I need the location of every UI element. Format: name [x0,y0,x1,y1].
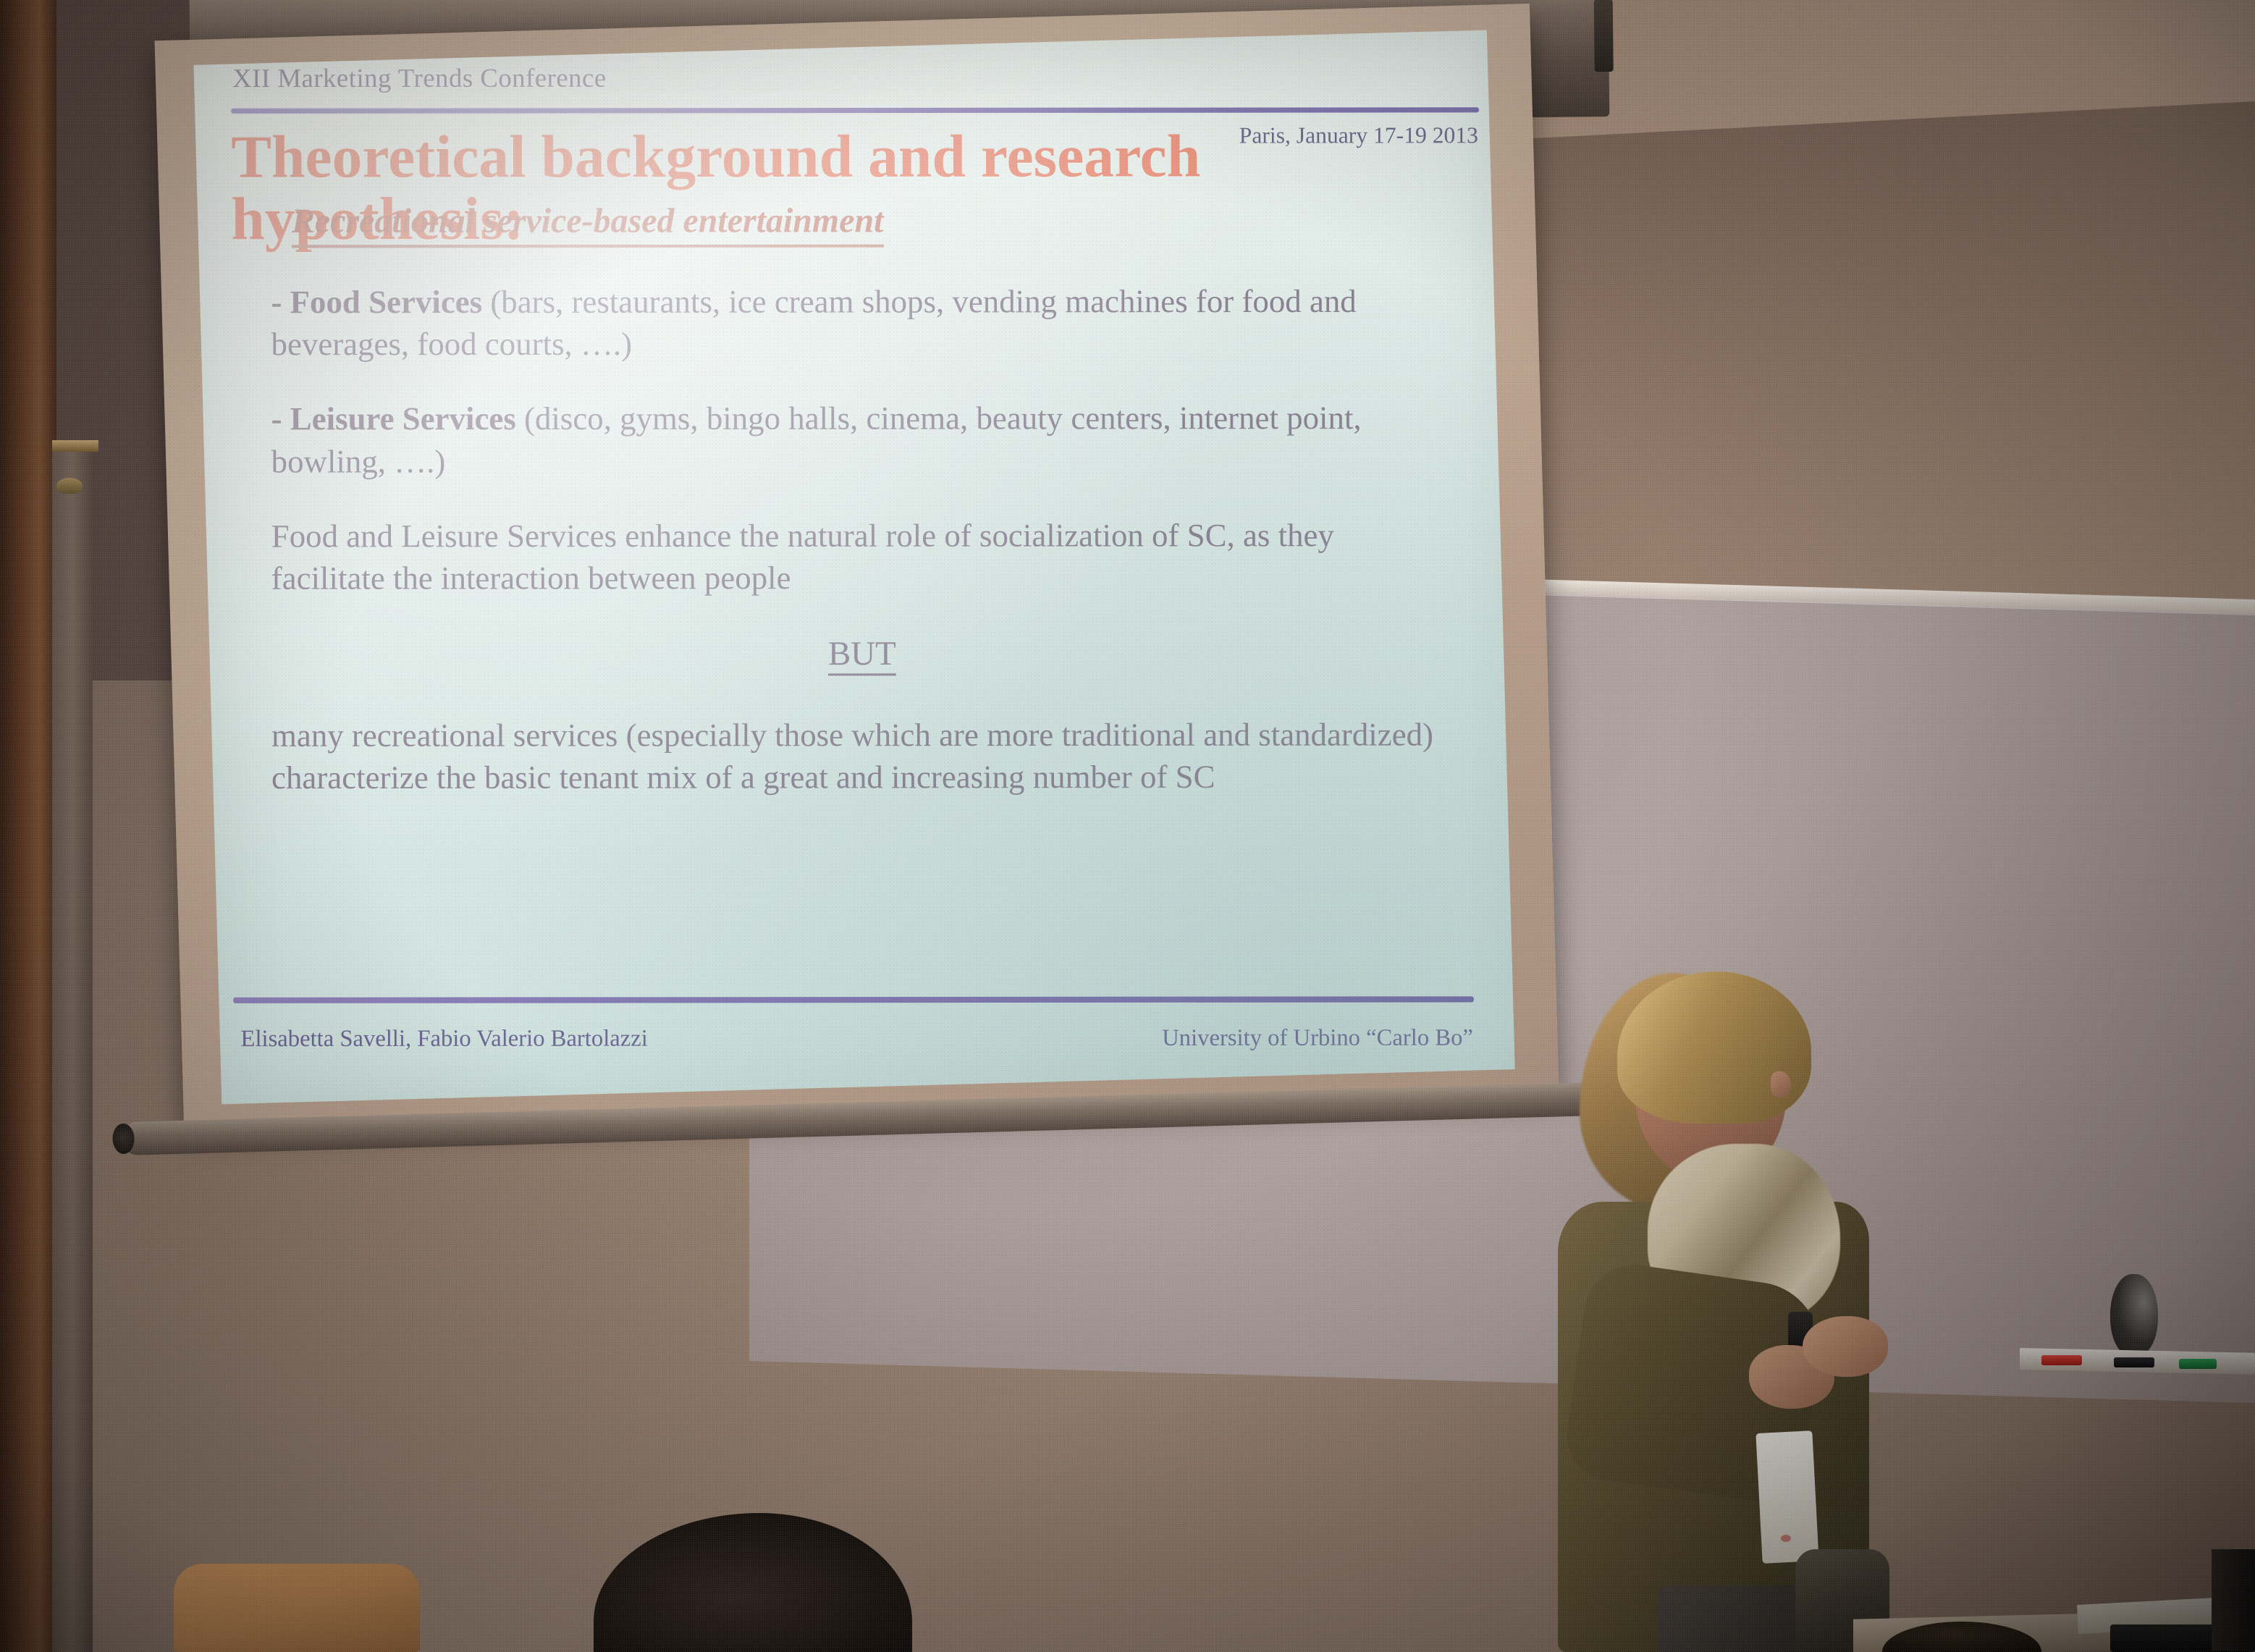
lecture-room-photo: XII Marketing Trends Conference Paris, J… [0,0,2255,1652]
bullet-leisure-services: - Leisure Services (disco, gyms, bingo h… [271,397,1453,482]
presentation-slide: XII Marketing Trends Conference Paris, J… [193,30,1514,1105]
laptop-screen-edge[interactable] [2212,1549,2255,1651]
bullet-leisure-services-label: - Leisure Services [271,401,516,437]
slide-footer-affiliation: University of Urbino “Carlo Bo” [1162,1024,1473,1051]
presenter [1542,963,1991,1652]
badge-mark [1781,1535,1791,1542]
paragraph-tenant-mix: many recreational services (especially t… [271,714,1453,799]
black-marker[interactable] [2114,1357,2154,1367]
upper-wall-recess [1477,101,2255,652]
slide-footer-authors: Elisabetta Savelli, Fabio Valerio Bartol… [240,1024,647,1052]
door-frame [0,0,56,1652]
wooden-chair-back[interactable] [174,1564,420,1652]
presenter-face-profile [1771,1071,1791,1097]
conference-badge [1755,1430,1818,1564]
but-connector: BUT [271,631,1453,676]
door-jamb [52,449,93,1652]
slide-top-rule [231,107,1479,114]
door-lintel [52,440,98,452]
red-marker[interactable] [2041,1355,2082,1365]
bullet-food-services: - Food Services (bars, restaurants, ice … [271,280,1452,366]
paragraph-socialization: Food and Leisure Services enhance the na… [271,514,1453,599]
whiteboard-eraser-icon[interactable] [2110,1274,2158,1355]
projection-screen: XII Marketing Trends Conference Paris, J… [109,0,1596,1230]
green-marker[interactable] [2179,1359,2217,1369]
bullet-food-services-label: - Food Services [271,284,482,320]
slide-body: - Food Services (bars, restaurants, ice … [271,280,1453,832]
but-label: BUT [828,634,896,675]
conference-name: XII Marketing Trends Conference [232,62,607,93]
presenter-right-hand [1803,1316,1888,1377]
door-hook-icon[interactable] [56,478,83,494]
slide-bottom-rule [233,996,1474,1003]
slide-subtitle: Recreational service-based entertainment [292,201,884,248]
